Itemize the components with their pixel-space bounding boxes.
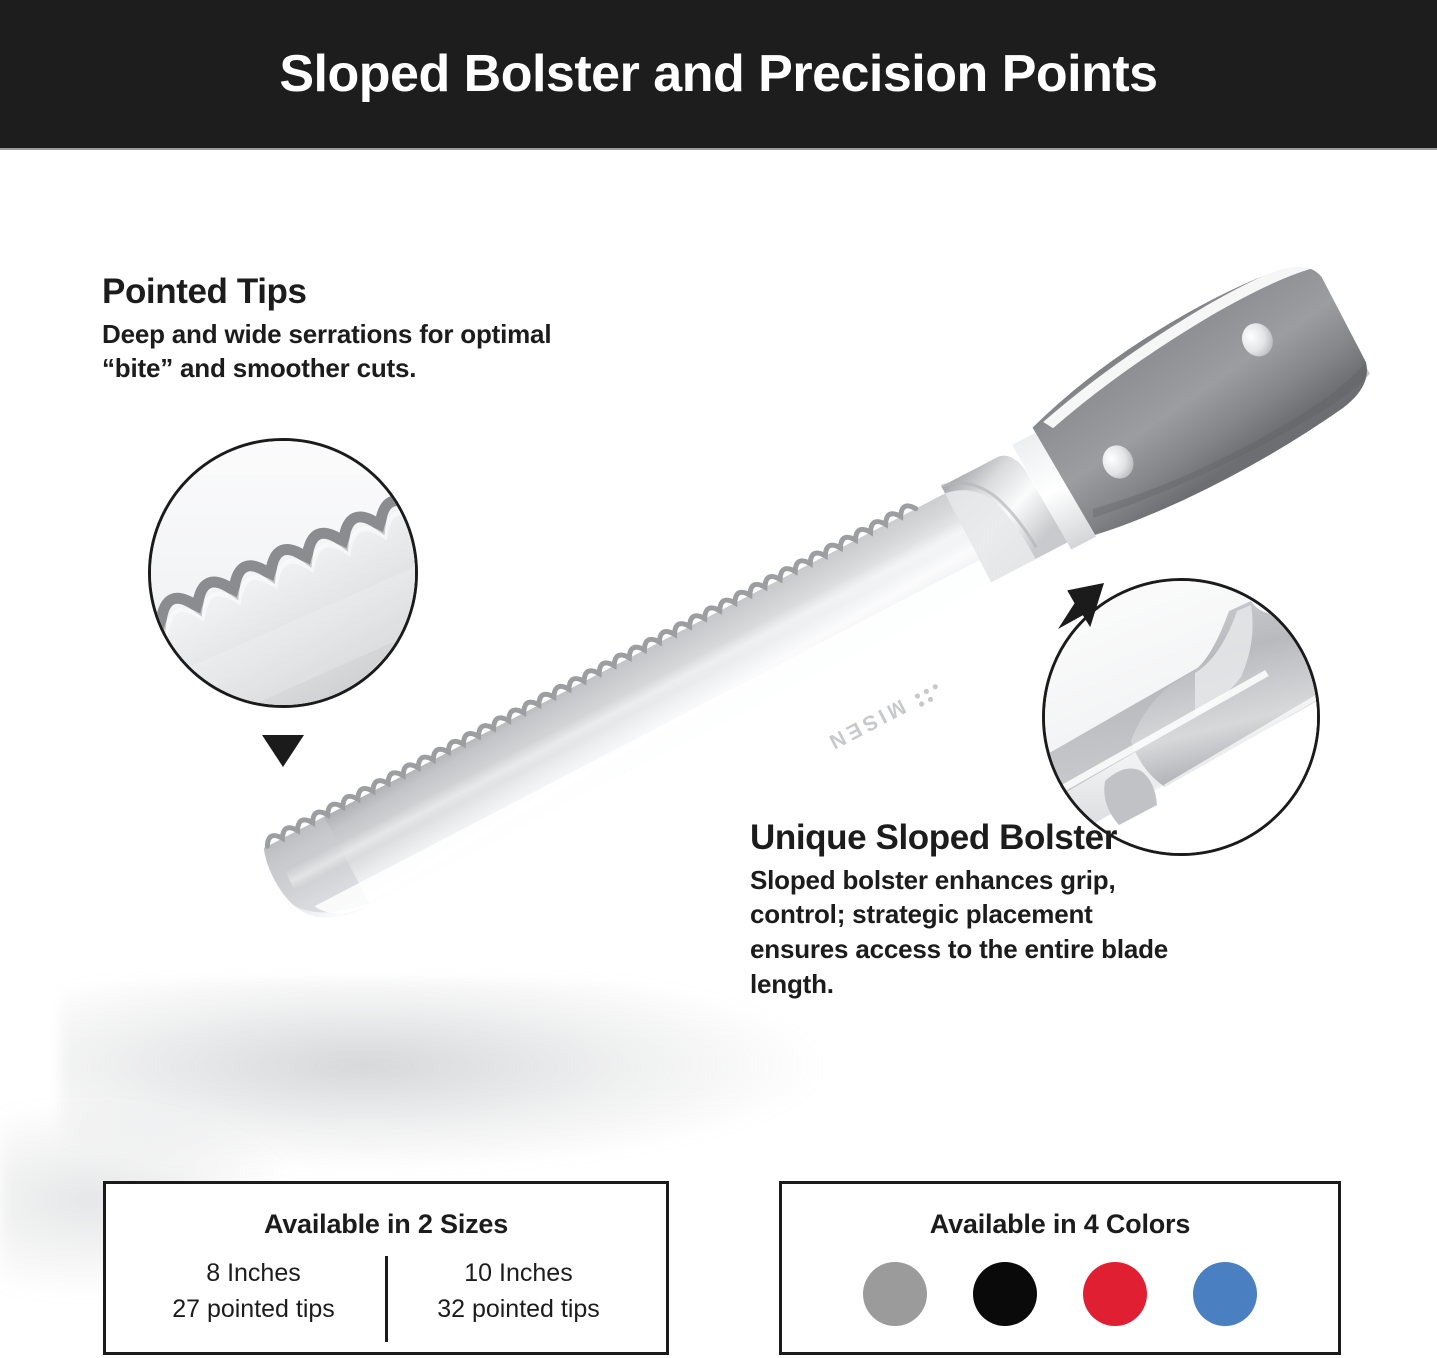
size-option-8in: 8 Inches 27 pointed tips bbox=[131, 1256, 377, 1342]
sizes-divider bbox=[385, 1256, 388, 1342]
tips-label-10in: 32 pointed tips bbox=[396, 1292, 642, 1328]
magnifier-pointer-down-icon bbox=[262, 735, 304, 767]
callout-sloped-bolster: Unique Sloped Bolster Sloped bolster enh… bbox=[750, 818, 1190, 1002]
tips-label-8in: 27 pointed tips bbox=[131, 1292, 377, 1328]
color-swatch-row bbox=[782, 1262, 1338, 1326]
misen-brand-text: MISEN bbox=[822, 695, 909, 755]
magnifier-serrated-edge bbox=[148, 438, 418, 708]
colors-box-title: Available in 4 Colors bbox=[782, 1209, 1338, 1240]
magnifier-sloped-bolster bbox=[1042, 578, 1320, 856]
color-swatch-black[interactable] bbox=[973, 1262, 1037, 1326]
color-swatch-red[interactable] bbox=[1083, 1262, 1147, 1326]
callout-body-sloped-bolster: Sloped bolster enhances grip, control; s… bbox=[750, 863, 1190, 1002]
infographic-page: Sloped Bolster and Precision Points bbox=[0, 0, 1437, 1358]
size-option-10in: 10 Inches 32 pointed tips bbox=[396, 1256, 642, 1342]
sizes-box-title: Available in 2 Sizes bbox=[106, 1209, 666, 1240]
page-title: Sloped Bolster and Precision Points bbox=[279, 48, 1157, 100]
callout-body-pointed-tips: Deep and wide serrations for optimal “bi… bbox=[102, 317, 622, 387]
header-bar: Sloped Bolster and Precision Points bbox=[0, 0, 1437, 148]
color-swatch-gray[interactable] bbox=[863, 1262, 927, 1326]
callout-heading-sloped-bolster: Unique Sloped Bolster bbox=[750, 818, 1190, 859]
color-swatch-blue[interactable] bbox=[1193, 1262, 1257, 1326]
callout-pointed-tips: Pointed Tips Deep and wide serrations fo… bbox=[102, 272, 622, 386]
size-label-10in: 10 Inches bbox=[396, 1256, 642, 1292]
misen-dot-mark bbox=[914, 683, 943, 707]
available-sizes-box: Available in 2 Sizes 8 Inches 27 pointed… bbox=[103, 1181, 669, 1355]
available-colors-box: Available in 4 Colors bbox=[779, 1181, 1341, 1355]
size-label-8in: 8 Inches bbox=[131, 1256, 377, 1292]
callout-heading-pointed-tips: Pointed Tips bbox=[102, 272, 622, 313]
sizes-row: 8 Inches 27 pointed tips 10 Inches 32 po… bbox=[106, 1256, 666, 1342]
